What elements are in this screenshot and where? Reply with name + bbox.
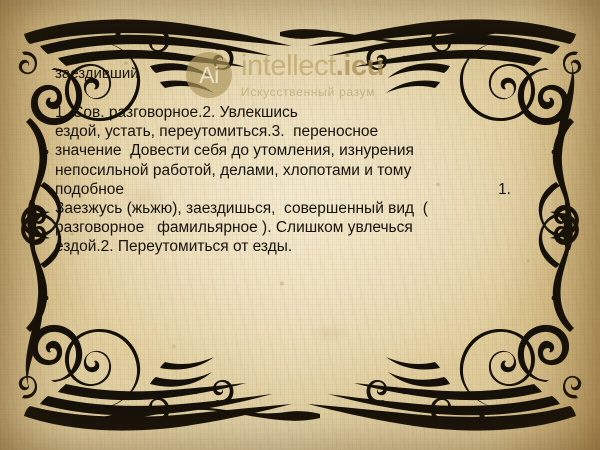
card-content: заездивший 1. Сов. разговорное.2. Увлекш… <box>55 64 555 257</box>
definition-line: значение Довести себя до утомления, изну… <box>55 141 555 160</box>
definition-line-with-sense-number: подобное 1. <box>55 180 511 199</box>
definition-line: ездой, устать, переутомиться.3. переносн… <box>55 122 555 141</box>
definition-line: непосильной работой, делами, хлопотами и… <box>55 161 555 180</box>
edge-wave-top <box>280 28 528 45</box>
definition-line: разговорное фамильярное ). Слишком увлеч… <box>55 218 555 237</box>
sense-number: 1. <box>498 180 511 199</box>
headword: заездивший <box>55 64 555 83</box>
definition-line: ездой.2. Переутомиться от езды. <box>55 237 555 256</box>
edge-wave-bottom <box>72 405 320 422</box>
definition-line-text: подобное <box>55 180 124 199</box>
dictionary-card: Ai intellect.icu Искусственный разум зае… <box>0 0 600 450</box>
edge-wave-left <box>26 200 43 386</box>
definition-body: 1. Сов. разговорное.2. Увлекшись ездой, … <box>55 103 555 257</box>
edge-wave-right <box>557 64 574 250</box>
definition-line: Заезжусь (жьжю), заездишься, совершенный… <box>55 199 555 218</box>
definition-line: 1. Сов. разговорное.2. Увлекшись <box>55 103 555 122</box>
